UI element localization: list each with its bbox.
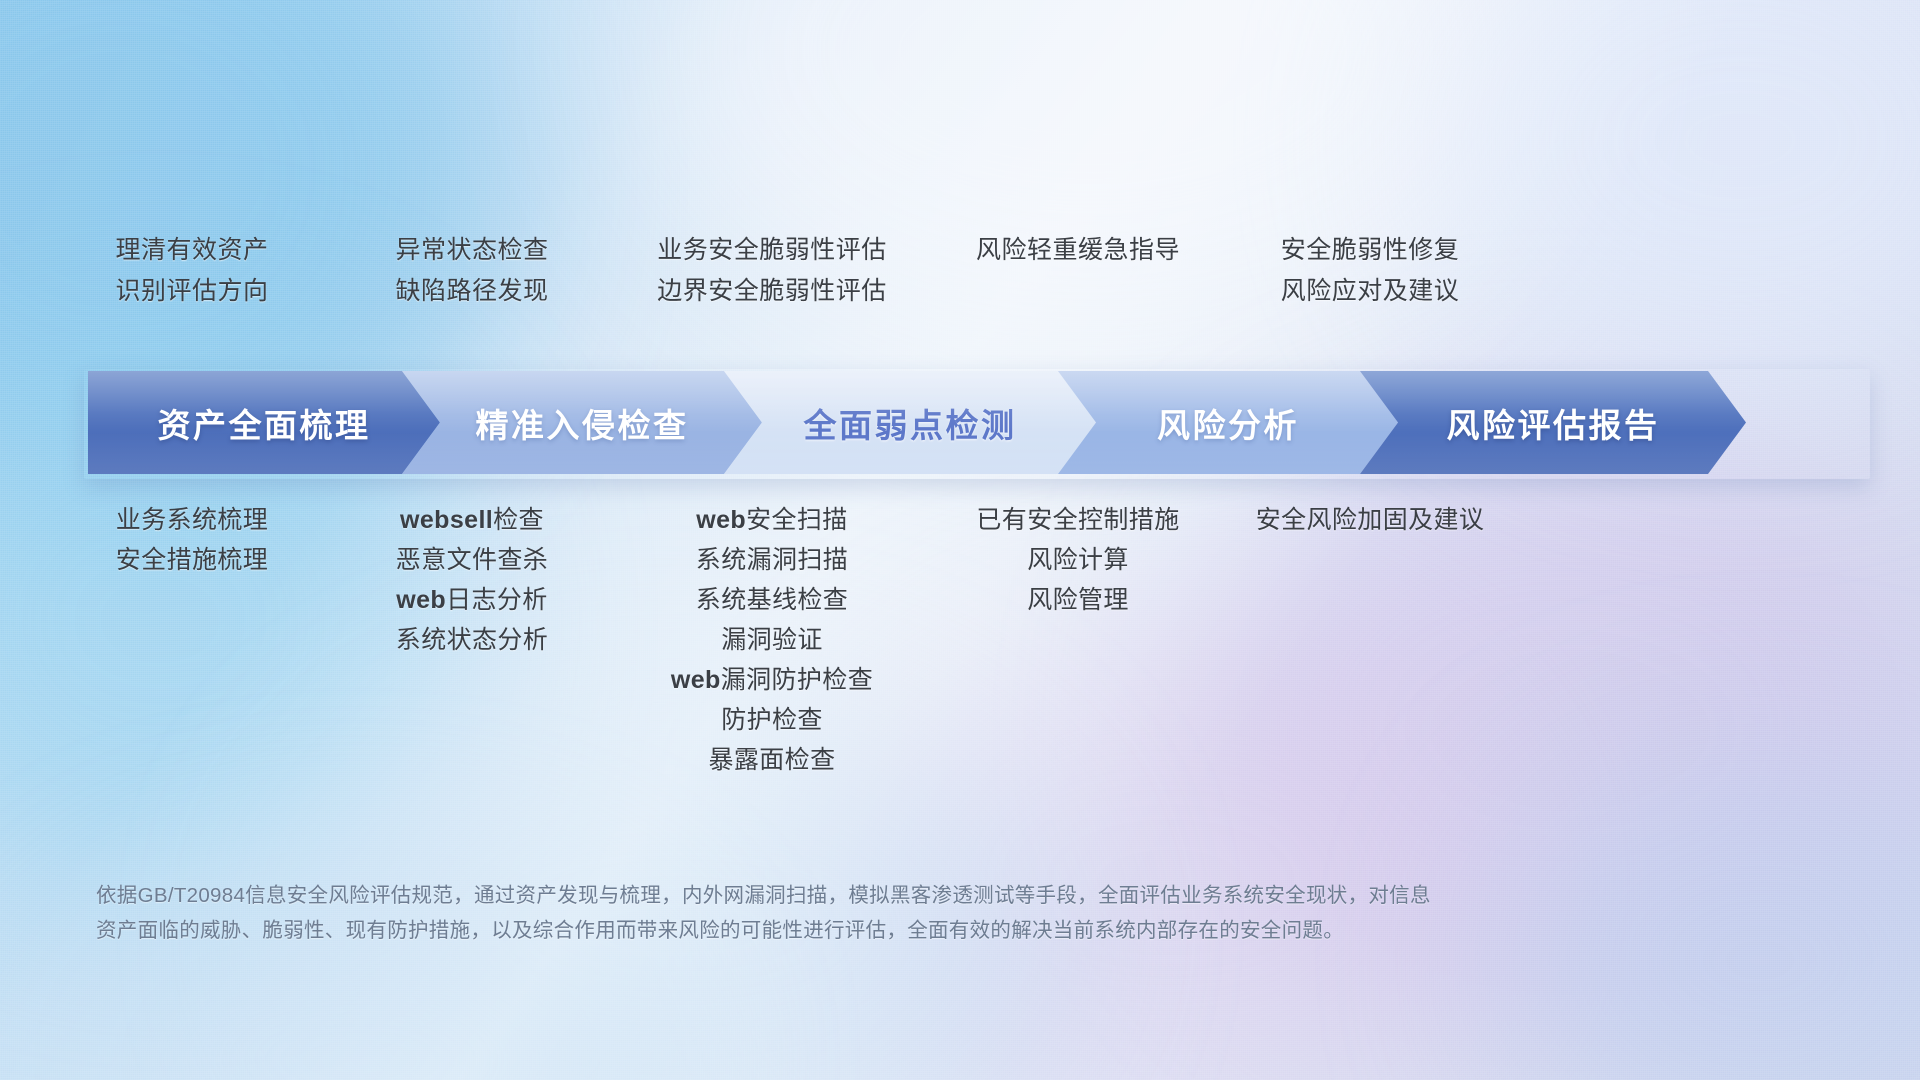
- bottom-caption-item: 安全风险加固及建议: [1256, 500, 1485, 540]
- bottom-caption-item: 风险管理: [1027, 580, 1129, 620]
- top-caption-item: 安全脆弱性修复: [1281, 230, 1460, 271]
- process-diagram: 理清有效资产识别评估方向异常状态检查缺陷路径发现业务安全脆弱性评估边界安全脆弱性…: [0, 0, 1920, 1080]
- bottom-caption-item: web漏洞防护检查: [671, 660, 873, 700]
- top-caption-item: 边界安全脆弱性评估: [657, 271, 887, 312]
- bottom-caption-item: 暴露面检查: [708, 740, 835, 780]
- bottom-caption-item: 风险计算: [1027, 540, 1129, 580]
- top-caption-group-5: 安全脆弱性修复风险应对及建议: [1070, 230, 1670, 311]
- top-caption-item: 风险应对及建议: [1281, 271, 1460, 312]
- footer-description: 依据GB/T20984信息安全风险评估规范，通过资产发现与梳理，内外网漏洞扫描，…: [96, 878, 1606, 949]
- bottom-caption-group-5: 安全风险加固及建议: [1070, 500, 1670, 540]
- footer-text: 依据GB/T20984信息安全风险评估规范，通过资产发现与梳理，内外网漏洞扫描，…: [96, 878, 1606, 949]
- bottom-caption-item: 防护检查: [721, 700, 823, 740]
- chevron-band-shadow: [84, 369, 1870, 479]
- bottom-caption-item: 漏洞验证: [721, 620, 823, 660]
